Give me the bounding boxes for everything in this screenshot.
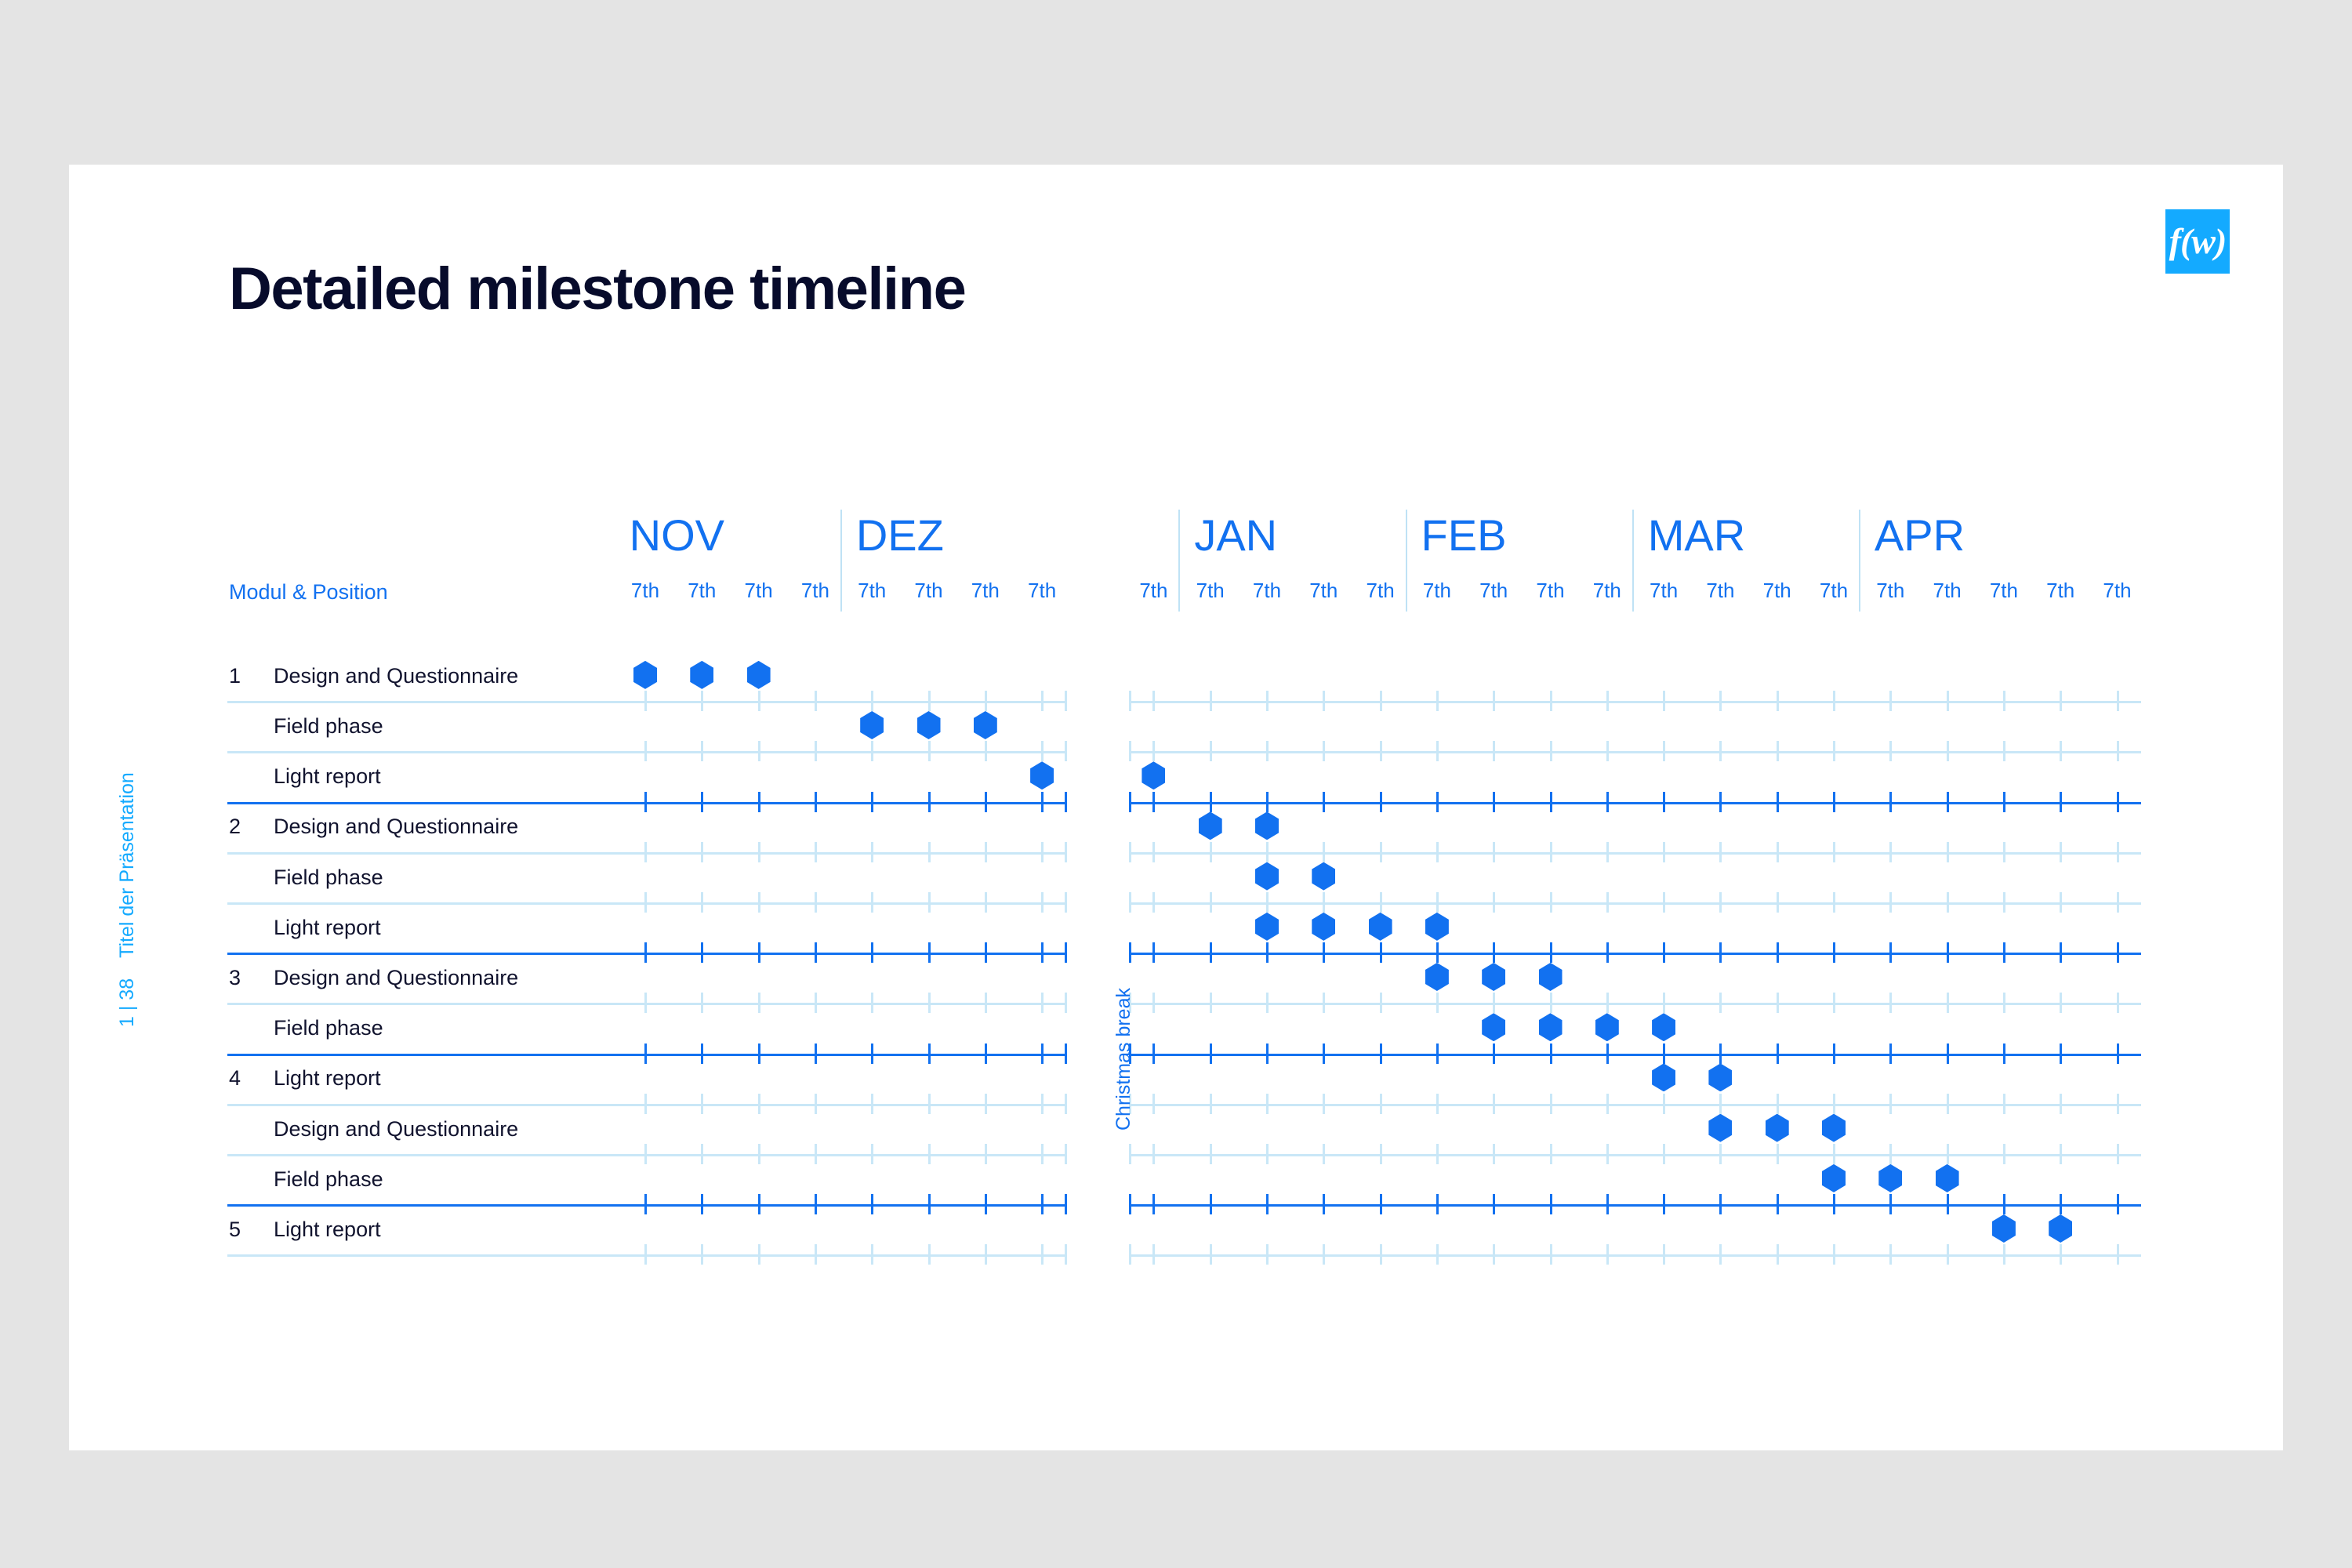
grid-tick: [758, 842, 760, 862]
grid-tick: [1210, 691, 1212, 711]
grid-tick: [871, 1044, 873, 1064]
grid-tick: [1380, 1194, 1382, 1214]
grid-tick: [644, 1144, 647, 1164]
grid-tick: [1436, 792, 1439, 812]
grid-tick-end: [1065, 792, 1067, 812]
grid-tick: [1550, 1244, 1552, 1265]
tick-label-7th: 7th: [631, 580, 659, 601]
row-number: 1: [229, 666, 241, 687]
grid-tick: [2117, 1144, 2119, 1164]
grid-tick: [644, 1044, 647, 1064]
grid-tick: [1041, 1094, 1044, 1114]
milestone-marker[interactable]: [1255, 811, 1279, 840]
milestone-marker[interactable]: [1708, 1063, 1732, 1091]
grid-tick: [2003, 842, 2005, 862]
grid-tick-end: [1129, 942, 1131, 963]
grid-tick-end: [1129, 892, 1131, 913]
grid-tick: [1152, 741, 1155, 761]
grid-tick: [1947, 1094, 1949, 1114]
grid-tick-end: [1065, 1144, 1067, 1164]
milestone-marker[interactable]: [1142, 761, 1165, 789]
row-gridline: [1130, 802, 2141, 804]
grid-tick: [928, 942, 931, 963]
grid-tick: [2117, 741, 2119, 761]
grid-tick: [1889, 691, 1892, 711]
grid-tick: [1041, 842, 1044, 862]
grid-tick: [1266, 1094, 1269, 1114]
grid-tick: [1550, 892, 1552, 913]
grid-tick: [1152, 1144, 1155, 1164]
milestone-marker[interactable]: [860, 711, 884, 739]
month-separator: [1859, 510, 1860, 612]
grid-tick: [1152, 942, 1155, 963]
milestone-marker[interactable]: [1312, 862, 1335, 891]
tick-label-7th: 7th: [858, 580, 886, 601]
row-label: Design and Questionnaire: [274, 967, 518, 989]
grid-tick: [985, 691, 987, 711]
grid-tick-end: [1129, 842, 1131, 862]
grid-tick-end: [1065, 1194, 1067, 1214]
month-separator: [840, 510, 842, 612]
grid-tick: [1947, 993, 1949, 1013]
grid-tick: [758, 1094, 760, 1114]
grid-tick: [701, 1044, 703, 1064]
grid-tick: [644, 892, 647, 913]
grid-tick: [644, 842, 647, 862]
grid-tick: [1947, 691, 1949, 711]
grid-tick: [1550, 691, 1552, 711]
grid-tick: [2003, 1244, 2005, 1265]
grid-tick-end: [1065, 942, 1067, 963]
grid-tick: [1889, 1244, 1892, 1265]
grid-tick: [1777, 1244, 1779, 1265]
grid-tick: [815, 792, 817, 812]
grid-tick: [2003, 1094, 2005, 1114]
grid-tick: [815, 1244, 817, 1265]
milestone-marker[interactable]: [1482, 1013, 1505, 1041]
grid-tick: [1947, 892, 1949, 913]
grid-tick: [871, 892, 873, 913]
grid-tick: [1663, 1194, 1665, 1214]
grid-tick: [985, 1244, 987, 1265]
grid-tick: [1889, 993, 1892, 1013]
row-gridline: [1130, 1154, 2141, 1156]
grid-tick: [928, 1094, 931, 1114]
row-label: Field phase: [274, 716, 383, 737]
grid-tick: [1152, 993, 1155, 1013]
grid-tick: [1663, 842, 1665, 862]
grid-tick: [1041, 1244, 1044, 1265]
grid-tick: [1041, 993, 1044, 1013]
grid-tick: [2003, 993, 2005, 1013]
grid-tick: [815, 842, 817, 862]
milestone-marker[interactable]: [1312, 913, 1335, 941]
grid-tick: [985, 842, 987, 862]
grid-tick: [2060, 1244, 2062, 1265]
grid-tick: [1152, 1094, 1155, 1114]
grid-tick: [1380, 1044, 1382, 1064]
grid-tick-end: [1065, 691, 1067, 711]
grid-tick: [1889, 1194, 1892, 1214]
grid-tick: [1833, 741, 1835, 761]
grid-tick: [644, 1194, 647, 1214]
milestone-marker[interactable]: [1652, 1013, 1675, 1041]
grid-tick: [1606, 741, 1609, 761]
grid-tick: [1210, 1194, 1212, 1214]
grid-tick: [1152, 1194, 1155, 1214]
grid-tick: [1947, 1044, 1949, 1064]
grid-tick: [1947, 1244, 1949, 1265]
grid-tick: [871, 1194, 873, 1214]
grid-tick: [928, 993, 931, 1013]
tick-label-7th: 7th: [688, 580, 716, 601]
grid-tick: [1436, 741, 1439, 761]
grid-tick-end: [1129, 741, 1131, 761]
row-gridline: [1130, 902, 2141, 905]
grid-tick: [815, 1194, 817, 1214]
row-gridline: [1130, 1204, 2141, 1207]
tick-label-7th: 7th: [1423, 580, 1451, 601]
milestone-marker[interactable]: [1652, 1063, 1675, 1091]
milestone-marker[interactable]: [633, 661, 657, 689]
grid-tick: [2117, 892, 2119, 913]
row-number: 5: [229, 1219, 241, 1240]
grid-tick: [1719, 1194, 1722, 1214]
grid-tick: [1493, 1144, 1495, 1164]
grid-tick: [1663, 741, 1665, 761]
grid-tick: [1323, 993, 1325, 1013]
grid-tick: [1606, 942, 1609, 963]
grid-tick: [1606, 892, 1609, 913]
milestone-marker[interactable]: [1539, 1013, 1563, 1041]
grid-tick: [1550, 1094, 1552, 1114]
grid-tick-end: [1065, 1044, 1067, 1064]
row-gridline: [1130, 1254, 2141, 1257]
month-label-mar: MAR: [1648, 514, 1745, 557]
grid-tick: [1889, 842, 1892, 862]
grid-tick: [985, 892, 987, 913]
grid-tick: [1606, 842, 1609, 862]
month-label-dez: DEZ: [856, 514, 944, 557]
grid-tick: [1663, 1244, 1665, 1265]
grid-tick: [758, 1044, 760, 1064]
grid-tick: [701, 942, 703, 963]
milestone-marker[interactable]: [917, 711, 941, 739]
month-separator: [1406, 510, 1407, 612]
milestone-marker[interactable]: [1822, 1114, 1846, 1142]
grid-tick: [1719, 1144, 1722, 1164]
grid-tick: [1777, 691, 1779, 711]
grid-tick: [1947, 842, 1949, 862]
grid-tick: [2060, 1094, 2062, 1114]
tick-label-7th: 7th: [1990, 580, 2018, 601]
row-label: Light report: [274, 917, 381, 938]
milestone-marker[interactable]: [2049, 1214, 2072, 1243]
grid-tick: [758, 993, 760, 1013]
grid-tick: [1152, 842, 1155, 862]
tick-label-7th: 7th: [1876, 580, 1904, 601]
grid-tick: [871, 1244, 873, 1265]
grid-tick: [985, 1144, 987, 1164]
grid-tick: [1266, 892, 1269, 913]
tick-label-7th: 7th: [801, 580, 829, 601]
grid-tick: [1210, 792, 1212, 812]
grid-tick: [1493, 842, 1495, 862]
grid-tick: [815, 993, 817, 1013]
milestone-marker[interactable]: [1255, 862, 1279, 891]
grid-tick: [1152, 1044, 1155, 1064]
grid-tick: [1889, 741, 1892, 761]
row-gridline: [1130, 1104, 2141, 1106]
tick-label-7th: 7th: [2103, 580, 2131, 601]
month-label-nov: NOV: [630, 514, 724, 557]
grid-tick: [1550, 993, 1552, 1013]
grid-tick: [1152, 892, 1155, 913]
grid-tick: [1380, 942, 1382, 963]
grid-tick: [1436, 942, 1439, 963]
tick-label-7th: 7th: [971, 580, 1000, 601]
grid-tick: [1323, 1144, 1325, 1164]
grid-tick: [1323, 942, 1325, 963]
grid-tick: [985, 792, 987, 812]
grid-tick: [2060, 1194, 2062, 1214]
grid-tick: [644, 1244, 647, 1265]
milestone-marker[interactable]: [1199, 811, 1222, 840]
milestone-marker[interactable]: [1539, 963, 1563, 991]
grid-tick: [1323, 1044, 1325, 1064]
grid-tick: [2117, 1044, 2119, 1064]
grid-tick: [2060, 1144, 2062, 1164]
grid-tick: [758, 1194, 760, 1214]
grid-tick: [2060, 993, 2062, 1013]
grid-tick: [2060, 942, 2062, 963]
grid-tick: [1889, 1144, 1892, 1164]
milestone-marker[interactable]: [1595, 1013, 1619, 1041]
grid-tick: [1777, 1094, 1779, 1114]
row-number: 2: [229, 816, 241, 837]
grid-tick: [871, 691, 873, 711]
milestone-marker[interactable]: [974, 711, 997, 739]
row-label: Field phase: [274, 1018, 383, 1039]
grid-tick: [928, 842, 931, 862]
grid-tick: [1266, 792, 1269, 812]
grid-tick: [644, 1094, 647, 1114]
grid-tick: [928, 691, 931, 711]
grid-tick: [1550, 1194, 1552, 1214]
grid-tick: [1210, 741, 1212, 761]
grid-tick: [701, 741, 703, 761]
grid-tick: [815, 1094, 817, 1114]
grid-tick: [1663, 1094, 1665, 1114]
grid-tick: [2117, 691, 2119, 711]
grid-tick: [1947, 741, 1949, 761]
grid-tick: [701, 691, 703, 711]
grid-tick: [1266, 1244, 1269, 1265]
milestone-marker[interactable]: [1878, 1164, 1902, 1192]
grid-tick: [1663, 792, 1665, 812]
grid-tick: [1210, 1244, 1212, 1265]
milestone-marker[interactable]: [1708, 1114, 1732, 1142]
grid-tick: [1719, 1244, 1722, 1265]
grid-tick: [2060, 842, 2062, 862]
grid-tick: [1550, 741, 1552, 761]
grid-tick: [1266, 942, 1269, 963]
grid-tick: [985, 993, 987, 1013]
grid-tick: [1323, 1094, 1325, 1114]
grid-tick: [1606, 1094, 1609, 1114]
grid-tick: [1719, 1094, 1722, 1114]
grid-tick: [1833, 1194, 1835, 1214]
tick-label-7th: 7th: [914, 580, 942, 601]
grid-tick: [985, 942, 987, 963]
grid-tick: [985, 741, 987, 761]
row-label: Field phase: [274, 867, 383, 888]
grid-tick: [1777, 892, 1779, 913]
grid-tick: [2117, 1194, 2119, 1214]
grid-tick: [1889, 1044, 1892, 1064]
grid-tick: [1493, 691, 1495, 711]
grid-tick: [1777, 1194, 1779, 1214]
grid-tick: [1152, 691, 1155, 711]
grid-tick: [815, 1044, 817, 1064]
grid-tick: [928, 1044, 931, 1064]
grid-tick: [1663, 892, 1665, 913]
grid-tick: [1777, 993, 1779, 1013]
grid-tick: [1266, 1044, 1269, 1064]
grid-tick: [928, 1244, 931, 1265]
month-separator: [1178, 510, 1180, 612]
grid-tick: [1493, 1044, 1495, 1064]
grid-tick: [1380, 1094, 1382, 1114]
tick-label-7th: 7th: [745, 580, 773, 601]
grid-tick: [1436, 1094, 1439, 1114]
grid-tick: [2117, 993, 2119, 1013]
grid-tick: [1436, 1144, 1439, 1164]
tick-label-7th: 7th: [1763, 580, 1791, 601]
grid-tick: [758, 1144, 760, 1164]
milestone-marker[interactable]: [1030, 761, 1054, 789]
grid-tick: [985, 1044, 987, 1064]
grid-tick: [1380, 792, 1382, 812]
grid-tick: [1266, 741, 1269, 761]
grid-tick: [1606, 1194, 1609, 1214]
row-gridline: [1130, 953, 2141, 955]
milestone-marker[interactable]: [1425, 913, 1449, 941]
milestone-marker[interactable]: [747, 661, 771, 689]
month-separator: [1632, 510, 1634, 612]
grid-tick: [1152, 1244, 1155, 1265]
grid-tick: [1266, 842, 1269, 862]
grid-tick: [1947, 1144, 1949, 1164]
grid-tick: [701, 792, 703, 812]
grid-tick: [1889, 792, 1892, 812]
grid-tick: [985, 1194, 987, 1214]
grid-tick: [701, 1194, 703, 1214]
row-gridline: [1130, 1003, 2141, 1005]
grid-tick-end: [1129, 792, 1131, 812]
grid-tick: [928, 741, 931, 761]
milestone-marker[interactable]: [1369, 913, 1392, 941]
grid-tick: [815, 942, 817, 963]
milestone-marker[interactable]: [1482, 963, 1505, 991]
grid-tick: [701, 1144, 703, 1164]
grid-tick: [2060, 741, 2062, 761]
grid-tick: [758, 691, 760, 711]
grid-tick: [2003, 691, 2005, 711]
grid-tick: [1210, 1044, 1212, 1064]
grid-tick: [1323, 892, 1325, 913]
tick-label-7th: 7th: [2046, 580, 2074, 601]
grid-tick: [815, 741, 817, 761]
grid-tick: [815, 691, 817, 711]
grid-tick: [1777, 942, 1779, 963]
grid-tick: [1210, 1144, 1212, 1164]
milestone-marker[interactable]: [1936, 1164, 1959, 1192]
grid-tick: [2003, 792, 2005, 812]
grid-tick: [644, 993, 647, 1013]
grid-tick: [2117, 792, 2119, 812]
grid-tick: [2003, 942, 2005, 963]
grid-tick: [701, 1244, 703, 1265]
row-label: Field phase: [274, 1169, 383, 1190]
grid-tick: [1550, 792, 1552, 812]
grid-tick: [644, 691, 647, 711]
grid-tick: [1719, 691, 1722, 711]
grid-tick: [758, 892, 760, 913]
milestone-marker[interactable]: [1766, 1114, 1789, 1142]
grid-tick: [1777, 1144, 1779, 1164]
grid-tick: [2003, 892, 2005, 913]
grid-tick: [1380, 892, 1382, 913]
grid-tick: [1833, 691, 1835, 711]
grid-tick: [1210, 942, 1212, 963]
grid-tick: [1606, 1044, 1609, 1064]
grid-tick: [1719, 942, 1722, 963]
grid-tick: [1210, 892, 1212, 913]
grid-tick: [1266, 1144, 1269, 1164]
grid-tick: [1606, 792, 1609, 812]
grid-tick: [1833, 1244, 1835, 1265]
milestone-marker[interactable]: [1992, 1214, 2016, 1243]
milestone-marker[interactable]: [1822, 1164, 1846, 1192]
grid-tick: [701, 993, 703, 1013]
grid-tick: [1436, 1044, 1439, 1064]
grid-tick: [1777, 792, 1779, 812]
grid-tick: [1719, 1044, 1722, 1064]
grid-tick: [1041, 1144, 1044, 1164]
grid-tick: [871, 1144, 873, 1164]
grid-tick: [1323, 792, 1325, 812]
grid-tick: [1833, 892, 1835, 913]
grid-tick: [1210, 993, 1212, 1013]
grid-tick: [928, 1144, 931, 1164]
grid-tick: [928, 792, 931, 812]
grid-tick: [1436, 993, 1439, 1013]
milestone-marker[interactable]: [1255, 913, 1279, 941]
grid-tick: [1436, 691, 1439, 711]
milestone-marker[interactable]: [1425, 963, 1449, 991]
milestone-marker[interactable]: [690, 661, 713, 689]
grid-tick: [2060, 1044, 2062, 1064]
tick-label-7th: 7th: [1479, 580, 1508, 601]
grid-tick: [1550, 1144, 1552, 1164]
grid-tick: [1323, 1194, 1325, 1214]
row-label: Design and Questionnaire: [274, 666, 518, 687]
tick-label-7th: 7th: [1933, 580, 1962, 601]
grid-tick: [758, 741, 760, 761]
grid-tick: [1041, 1194, 1044, 1214]
grid-tick: [2003, 741, 2005, 761]
